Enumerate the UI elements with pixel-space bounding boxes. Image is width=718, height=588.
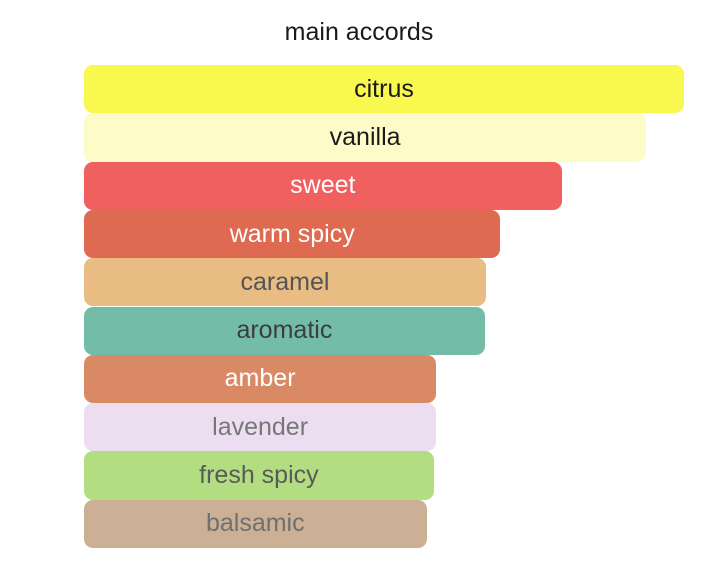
bar-fill: [84, 113, 646, 161]
bar-fill: [84, 500, 427, 548]
bar-row[interactable]: lavender: [84, 403, 684, 451]
bar-row[interactable]: citrus: [84, 65, 684, 113]
bar-fill: [84, 162, 562, 210]
bar-fill: [84, 307, 485, 355]
bar-fill: [84, 210, 500, 258]
bar-row[interactable]: caramel: [84, 258, 684, 306]
bar-row[interactable]: amber: [84, 355, 684, 403]
bar-fill: [84, 355, 436, 403]
bar-fill: [84, 258, 486, 306]
bar-row[interactable]: warm spicy: [84, 210, 684, 258]
main-accords-chart: main accords citrusvanillasweetwarm spic…: [0, 0, 718, 588]
bar-row[interactable]: fresh spicy: [84, 451, 684, 499]
bar-fill: [84, 403, 436, 451]
chart-title: main accords: [0, 18, 718, 47]
bar-row[interactable]: balsamic: [84, 500, 684, 548]
bars-area: citrusvanillasweetwarm spicycaramelaroma…: [84, 65, 684, 549]
bar-fill: [84, 451, 434, 499]
bar-row[interactable]: aromatic: [84, 307, 684, 355]
bar-row[interactable]: sweet: [84, 162, 684, 210]
bar-fill: [84, 65, 684, 113]
bar-row[interactable]: vanilla: [84, 113, 684, 161]
